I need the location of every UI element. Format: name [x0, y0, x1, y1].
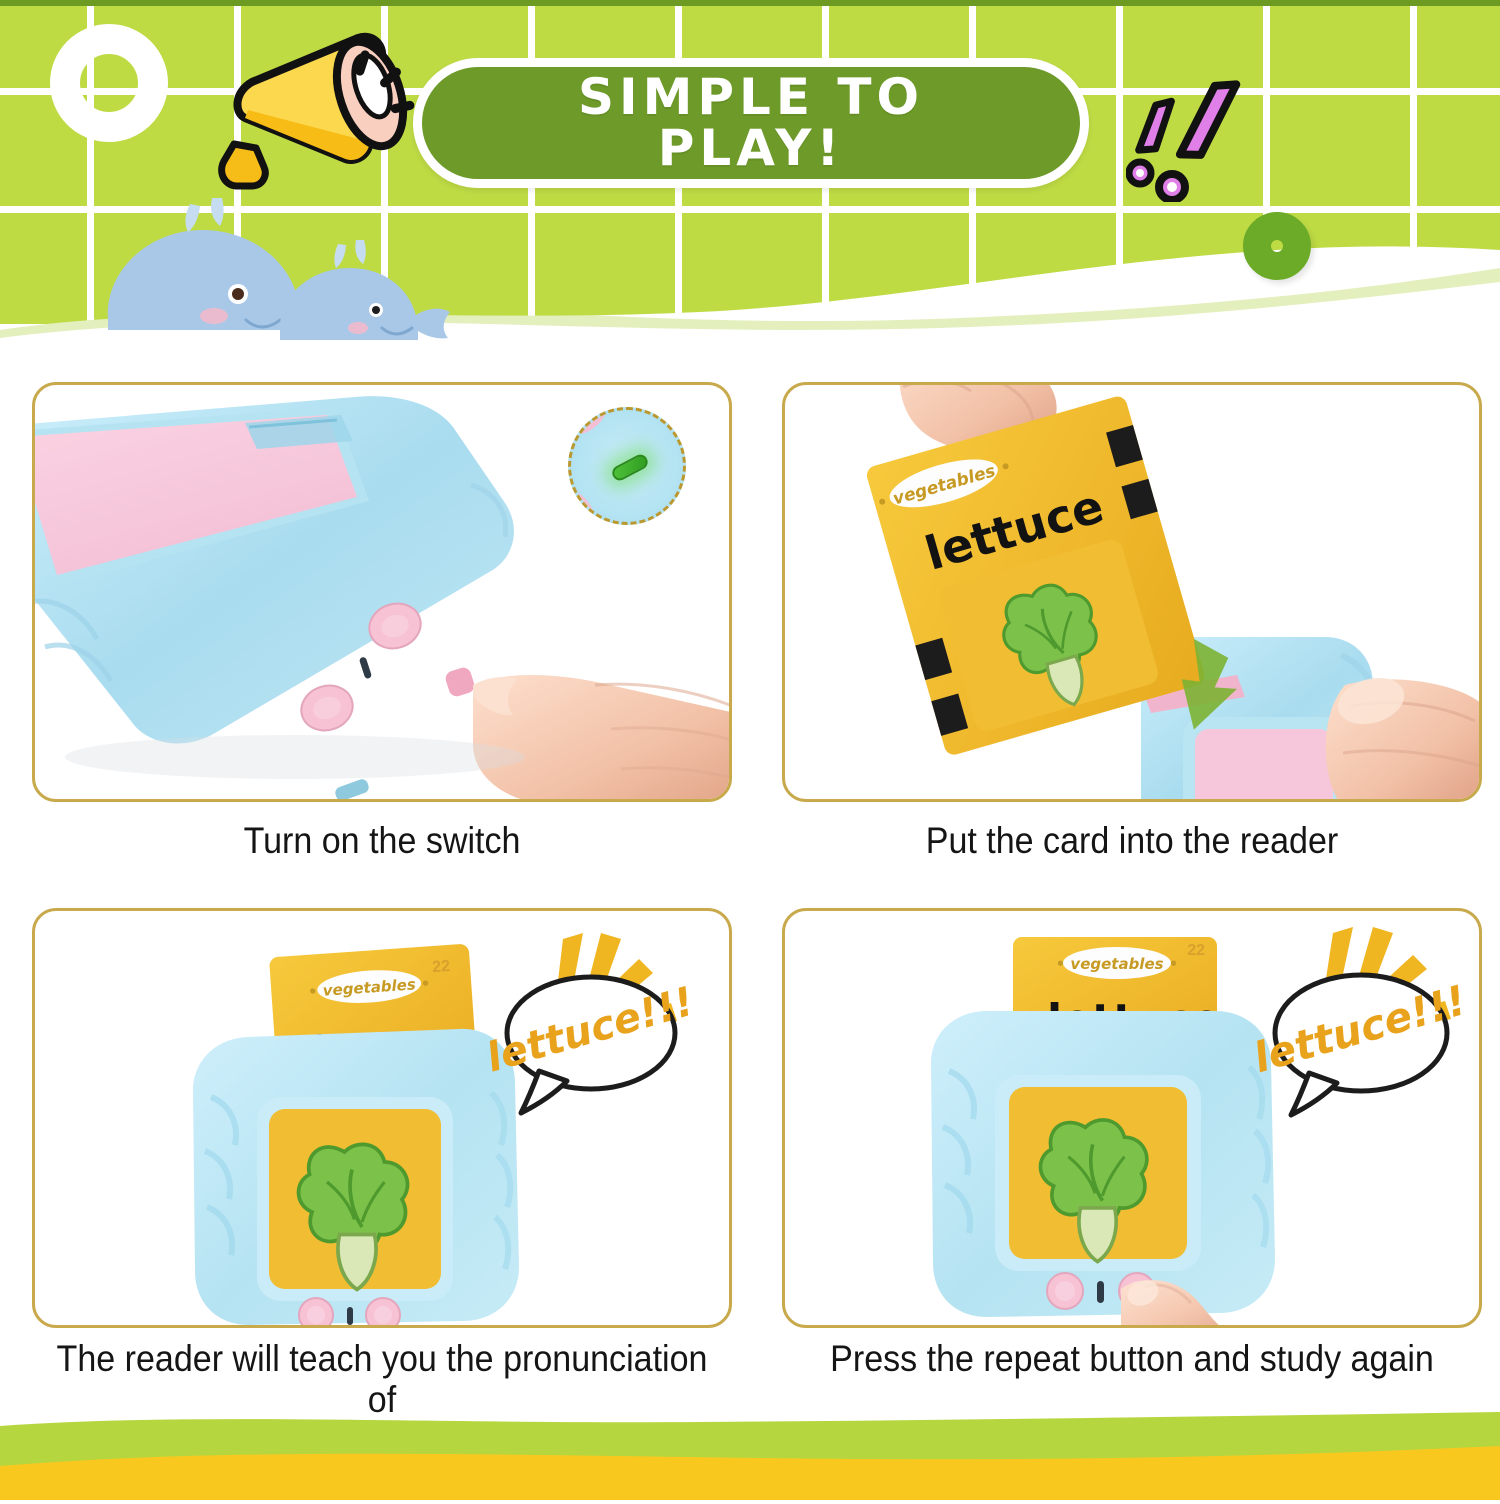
step-card-3: • vegetables • 22 lettuce	[32, 908, 732, 1328]
header-top-stripe	[0, 0, 1500, 6]
header-banner-section: SIMPLE TO PLAY!	[0, 0, 1500, 348]
whale-icon-small	[272, 236, 472, 348]
page-title: SIMPLE TO PLAY!	[578, 72, 924, 175]
step-card-1: Turn on the switch	[32, 382, 732, 802]
step-2-caption: Put the card into the reader	[804, 820, 1459, 861]
power-switch-icon	[610, 452, 651, 483]
step-2-photo: • vegetables • lettuce	[782, 382, 1482, 802]
step-card-4: • vegetables • 22 lettuce	[782, 908, 1482, 1328]
step-1-caption: Turn on the switch	[54, 820, 709, 861]
step-4-photo: • vegetables • 22 lettuce	[782, 908, 1482, 1328]
megaphone-icon	[212, 22, 412, 212]
page-title-line1: SIMPLE TO	[578, 72, 924, 124]
card-number-label: 22	[432, 958, 451, 976]
card-category-label: • vegetables •	[1056, 955, 1179, 973]
step-card-2: • vegetables • lettuce	[782, 382, 1482, 802]
device-photo-repeat: • vegetables • 22 lettuce	[785, 911, 1482, 1328]
footer-wave-band	[0, 1390, 1500, 1500]
step-4-caption: Press the repeat button and study again	[804, 1338, 1459, 1379]
page-title-banner: SIMPLE TO PLAY!	[413, 58, 1089, 188]
ring-decoration-white	[50, 24, 168, 142]
steps-grid: Turn on the switch	[0, 360, 1500, 1420]
switch-closeup-inset	[568, 407, 686, 525]
card-number-label: 22	[1187, 942, 1205, 959]
page-title-line2: PLAY!	[578, 123, 924, 175]
step-1-photo	[32, 382, 732, 802]
device-photo-insert: • vegetables • lettuce	[785, 385, 1482, 802]
speech-bubble: lettuce!!!	[1248, 975, 1471, 1115]
device-photo-speaking: • vegetables • 22 lettuce	[35, 911, 732, 1328]
ring-decoration-green	[1243, 212, 1311, 280]
exclamation-marks-icon	[1126, 72, 1286, 202]
step-3-photo: • vegetables • 22 lettuce	[32, 908, 732, 1328]
